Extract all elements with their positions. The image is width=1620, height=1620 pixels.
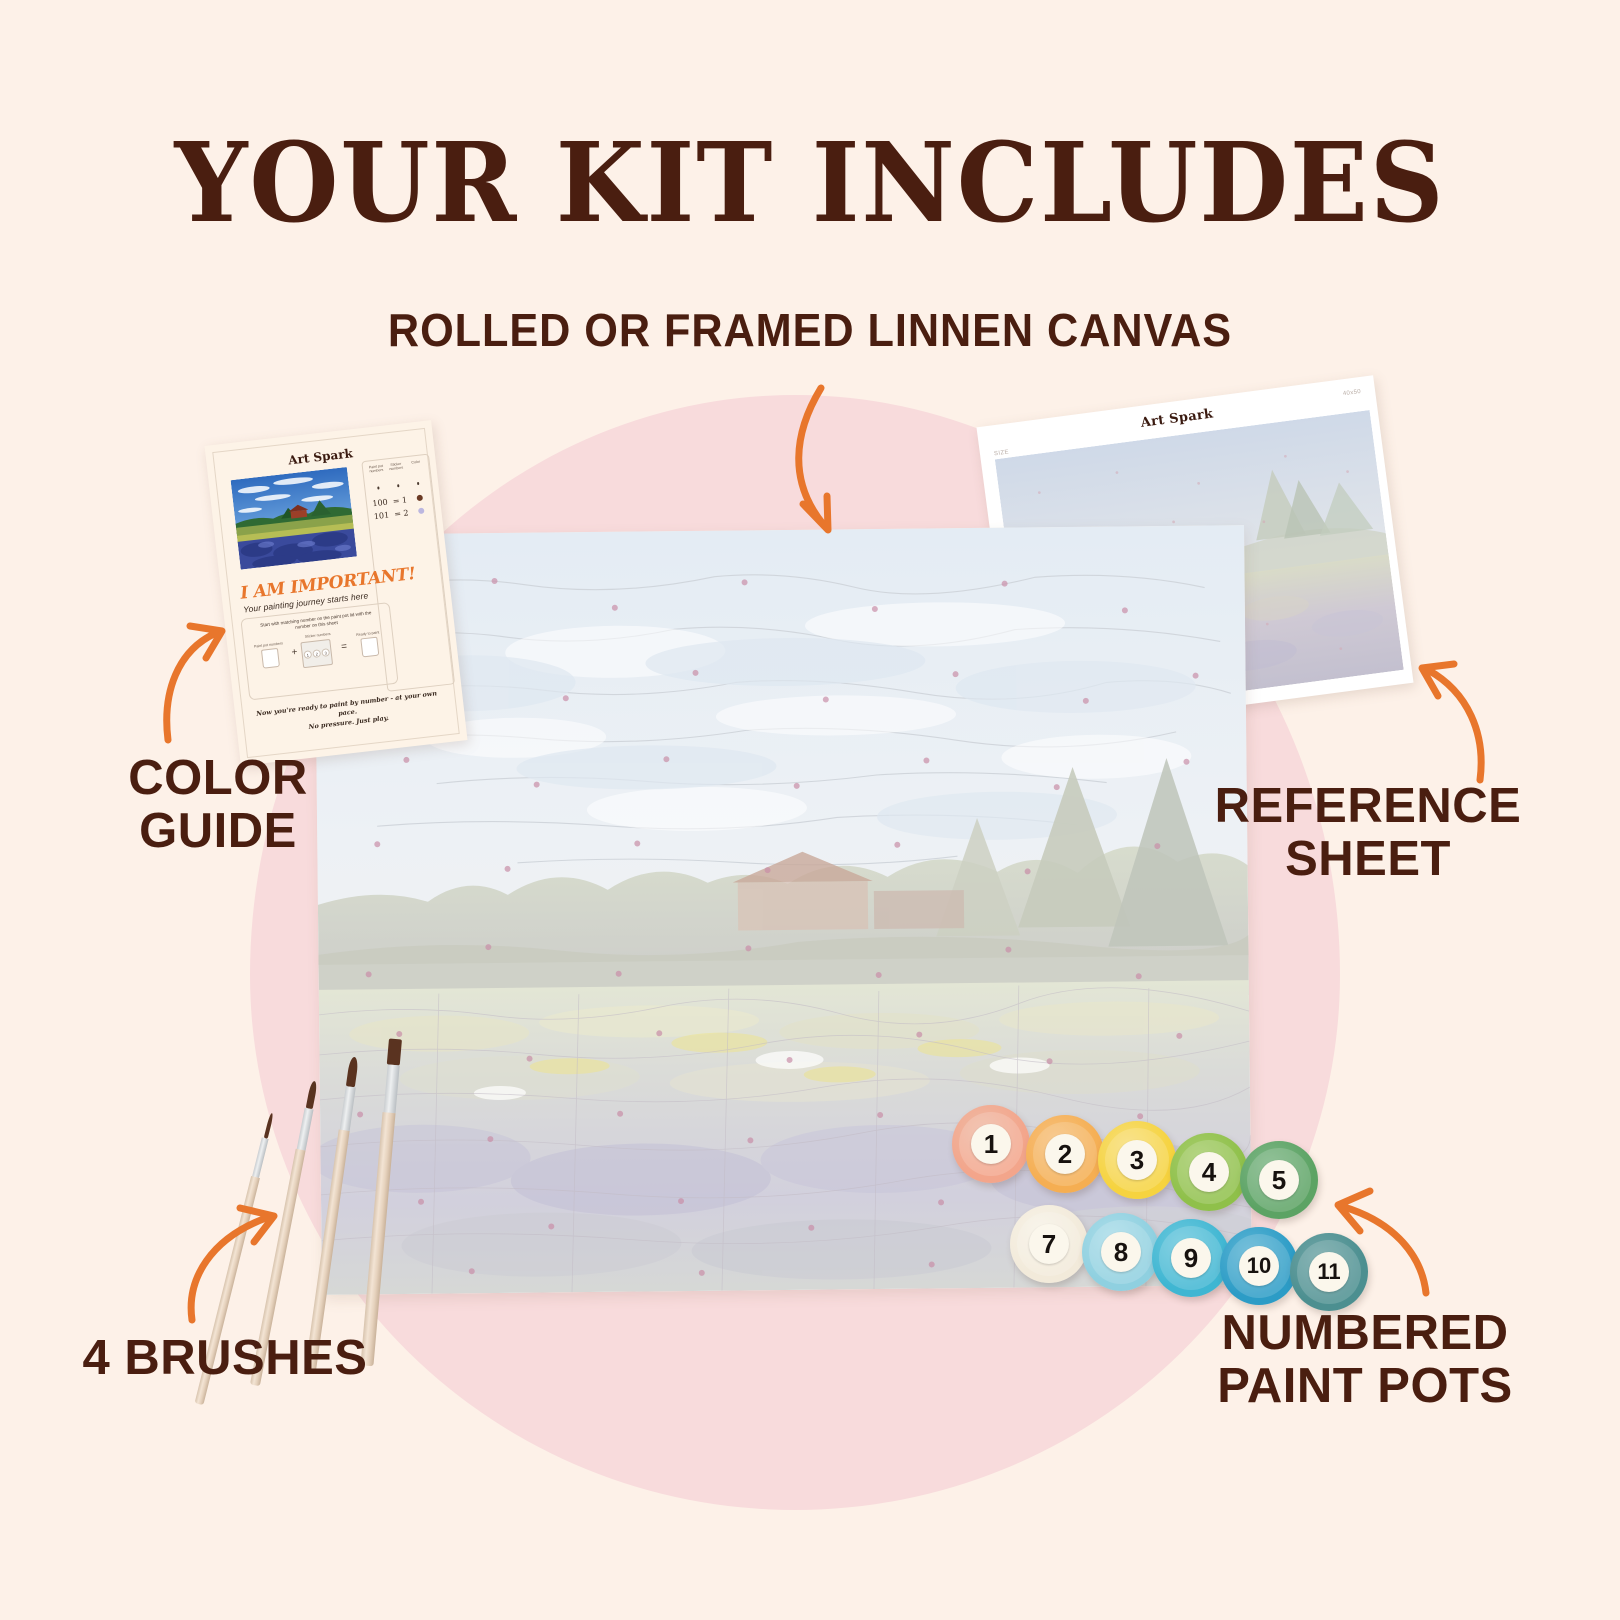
paint-pot[interactable]: 1: [952, 1105, 1030, 1183]
paint-pot-number: 1: [971, 1124, 1011, 1164]
paint-pot-number: 8: [1101, 1232, 1141, 1272]
callout-color-guide-line1: COLOR: [68, 752, 368, 805]
paint-pot[interactable]: 2: [1026, 1115, 1104, 1193]
step-ready: Ready to paint: [350, 630, 389, 659]
step-ready-label: Ready to paint: [350, 630, 386, 638]
dot-marker: [417, 482, 420, 485]
paint-pot[interactable]: 4: [1170, 1133, 1248, 1211]
ready-pot-icon: [360, 637, 379, 658]
arrow-to-color-guide: [150, 600, 270, 750]
cell-sticker-number: = 2: [392, 508, 411, 519]
paint-pot-number: 9: [1171, 1238, 1211, 1278]
paint-pot[interactable]: 10: [1220, 1227, 1298, 1305]
callout-color-guide: COLOR GUIDE: [68, 752, 368, 858]
paint-pots-group: 1 2 3 4 5 7 8 9 10 11: [952, 1105, 1352, 1295]
arrow-to-reference-sheet: [1370, 640, 1500, 790]
page-title: YOUR KIT INCLUDES: [57, 118, 1564, 247]
equals-sign: =: [341, 641, 348, 653]
canvas-callout-label: ROLLED OR FRAMED LINNEN CANVAS: [49, 303, 1572, 357]
sticker-sheet-icon: 1 2 3: [300, 638, 333, 667]
dot-marker: [377, 487, 380, 490]
callout-color-guide-line2: GUIDE: [68, 805, 368, 858]
paint-pot-number: 5: [1259, 1160, 1299, 1200]
callout-paint-pots: NUMBERED PAINT POTS: [1160, 1307, 1570, 1413]
dot-marker: [397, 484, 400, 487]
brush-ferrule: [296, 1108, 313, 1151]
paint-pot[interactable]: 9: [1152, 1219, 1230, 1297]
plus-sign: +: [291, 647, 298, 659]
paint-pot[interactable]: 3: [1098, 1121, 1176, 1199]
table-row: 101 = 2: [372, 506, 431, 522]
cell-color-swatch: [412, 506, 431, 517]
cell-pot-number: 101: [372, 510, 391, 521]
cell-pot-number: 100: [371, 497, 390, 508]
header-paint-pot: Paint pot numbers: [367, 465, 386, 475]
brush-ferrule: [252, 1137, 268, 1178]
paint-pot-number: 7: [1029, 1224, 1069, 1264]
brush-tip: [305, 1080, 317, 1109]
brush[interactable]: [360, 1038, 402, 1366]
color-guide-preview-image: [231, 467, 357, 570]
brush-tip: [387, 1038, 402, 1065]
cell-color-swatch: [410, 493, 429, 504]
paint-pot-number: 10: [1239, 1246, 1279, 1286]
paint-pot-number: 3: [1117, 1140, 1157, 1180]
brush-tip: [346, 1056, 359, 1087]
brush-handle: [360, 1112, 395, 1366]
step-stickers: Sticker numbers 1 2 3: [300, 632, 339, 668]
callout-reference-line2: SHEET: [1178, 833, 1558, 886]
paint-pot[interactable]: 8: [1082, 1213, 1160, 1291]
callout-brushes: 4 BRUSHES: [60, 1332, 390, 1385]
reference-sheet-corner-left: SIZE: [994, 449, 1010, 457]
paint-pot-number: 2: [1045, 1134, 1085, 1174]
callout-reference-sheet: REFERENCE SHEET: [1178, 780, 1558, 886]
arrow-to-paint-pots: [1300, 1165, 1440, 1305]
callout-brushes-text: 4 BRUSHES: [60, 1332, 390, 1385]
callout-pots-line1: NUMBERED: [1160, 1307, 1570, 1360]
paint-pot[interactable]: 7: [1010, 1205, 1088, 1283]
brush-ferrule: [383, 1064, 399, 1113]
sticker-icon: 1: [303, 650, 312, 659]
sticker-icon: 2: [312, 649, 321, 658]
table-dot-row: [368, 471, 428, 495]
header-sticker: Sticker numbers: [387, 462, 406, 472]
header-color: Color: [407, 460, 426, 470]
infographic-stage: YOUR KIT INCLUDES ROLLED OR FRAMED LINNE…: [0, 0, 1620, 1620]
sticker-icon: 3: [321, 648, 330, 657]
brush-ferrule: [339, 1086, 355, 1131]
arrow-to-canvas: [745, 372, 895, 547]
callout-reference-line1: REFERENCE: [1178, 780, 1558, 833]
step-stickers-label: Sticker numbers: [300, 632, 336, 640]
arrow-to-brushes: [178, 1180, 318, 1330]
brush-tip: [263, 1113, 273, 1139]
paint-pot-number: 4: [1189, 1152, 1229, 1192]
cell-sticker-number: = 1: [390, 495, 409, 506]
callout-pots-line2: PAINT POTS: [1160, 1360, 1570, 1413]
